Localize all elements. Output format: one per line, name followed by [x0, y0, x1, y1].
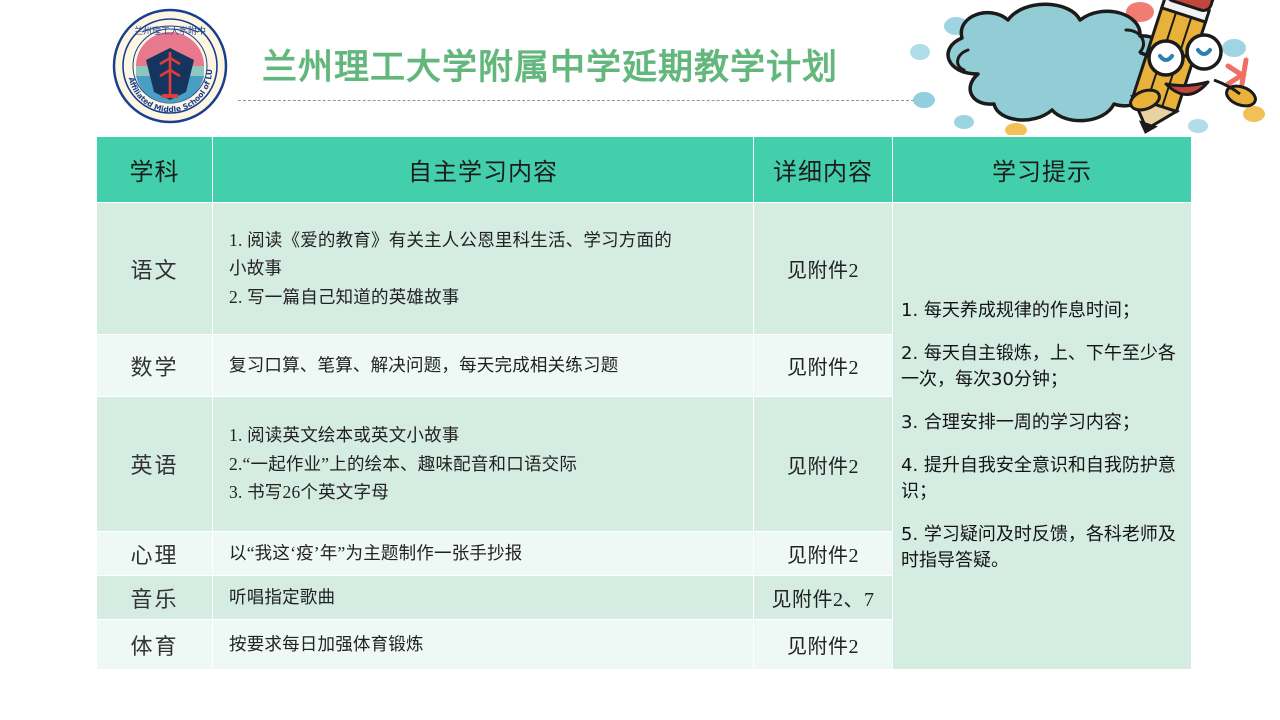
cloud-pencil-icon	[898, 0, 1280, 136]
tip-item: 3. 合理安排一周的学习内容；	[901, 410, 1185, 436]
school-logo-icon: 兰州理工大学附中 Affiliated Middle School of LUT	[112, 8, 228, 124]
tip-item: 4. 提升自我安全意识和自我防护意识；	[901, 453, 1185, 505]
cell-detail: 见附件2	[754, 203, 893, 335]
slide-page: 兰州理工大学附中 Affiliated Middle School of LUT…	[0, 0, 1280, 720]
cell-subject: 音乐	[97, 576, 213, 620]
cell-subject: 数学	[97, 335, 213, 397]
cell-study-tips: 1. 每天养成规律的作息时间； 2. 每天自主锻炼，上、下午至少各一次，每次30…	[893, 203, 1192, 670]
page-title: 兰州理工大学附属中学延期教学计划	[262, 44, 902, 92]
grade-badge: 二年级	[898, 0, 1280, 136]
cell-content: 1. 阅读《爱的教育》有关主人公恩里科生活、学习方面的 小故事 2. 写一篇自己…	[213, 203, 754, 335]
study-plan-table: 学科 自主学习内容 详细内容 学习提示 语文 1. 阅读《爱的教育》有关主人公恩…	[96, 136, 1192, 670]
cell-detail: 见附件2	[754, 335, 893, 397]
school-logo: 兰州理工大学附中 Affiliated Middle School of LUT	[112, 8, 228, 124]
cell-subject: 英语	[97, 397, 213, 532]
cell-detail: 见附件2	[754, 397, 893, 532]
tip-item: 2. 每天自主锻炼，上、下午至少各一次，每次30分钟；	[901, 341, 1185, 393]
cell-content: 复习口算、笔算、解决问题，每天完成相关练习题	[213, 335, 754, 397]
cell-detail: 见附件2、7	[754, 576, 893, 620]
col-header-tips: 学习提示	[893, 137, 1192, 203]
title-divider	[238, 100, 914, 101]
cell-detail: 见附件2	[754, 620, 893, 670]
col-header-content: 自主学习内容	[213, 137, 754, 203]
cell-content: 1. 阅读英文绘本或英文小故事 2.“一起作业”上的绘本、趣味配音和口语交际 3…	[213, 397, 754, 532]
cell-content: 以“我这‘疫’年”为主题制作一张手抄报	[213, 532, 754, 576]
cell-content: 听唱指定歌曲	[213, 576, 754, 620]
study-plan-table-wrap: 学科 自主学习内容 详细内容 学习提示 语文 1. 阅读《爱的教育》有关主人公恩…	[95, 135, 1190, 668]
cell-content: 按要求每日加强体育锻炼	[213, 620, 754, 670]
table-row: 语文 1. 阅读《爱的教育》有关主人公恩里科生活、学习方面的 小故事 2. 写一…	[97, 203, 1192, 335]
tips-list: 1. 每天养成规律的作息时间； 2. 每天自主锻炼，上、下午至少各一次，每次30…	[901, 298, 1185, 575]
cell-subject: 语文	[97, 203, 213, 335]
cell-subject: 体育	[97, 620, 213, 670]
tip-item: 5. 学习疑问及时反馈，各科老师及时指导答疑。	[901, 522, 1185, 574]
slide-header: 兰州理工大学附中 Affiliated Middle School of LUT…	[0, 0, 1280, 132]
svg-text:兰州理工大学附中: 兰州理工大学附中	[134, 25, 206, 37]
col-header-subject: 学科	[97, 137, 213, 203]
table-header-row: 学科 自主学习内容 详细内容 学习提示	[97, 137, 1192, 203]
cell-detail: 见附件2	[754, 532, 893, 576]
tip-item: 1. 每天养成规律的作息时间；	[901, 298, 1185, 324]
cell-subject: 心理	[97, 532, 213, 576]
col-header-detail: 详细内容	[754, 137, 893, 203]
